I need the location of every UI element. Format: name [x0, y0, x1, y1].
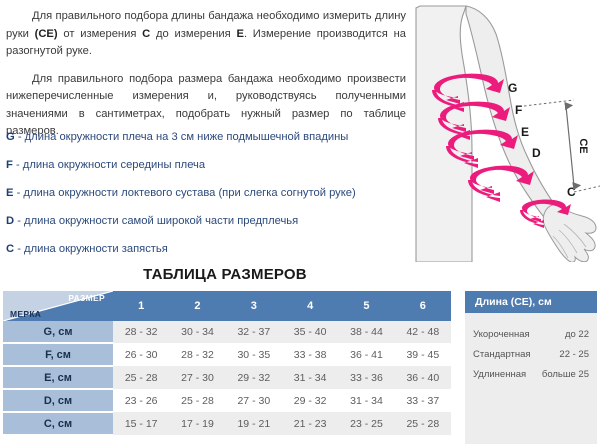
cell-e-4: 31 - 34	[282, 366, 338, 389]
cell-f-4: 33 - 38	[282, 343, 338, 366]
length-table-body: Укороченная до 22 Стандартная 22 - 25 Уд…	[465, 313, 597, 444]
size-column-header-2[interactable]: 2	[169, 291, 225, 321]
row-label-g: G, см	[3, 321, 113, 343]
legend-key-d: D	[6, 215, 14, 227]
cell-f-2: 28 - 32	[169, 343, 225, 366]
cell-e-2: 27 - 30	[169, 366, 225, 389]
legend-key-f: F	[6, 159, 13, 171]
diagram-label-f: F	[515, 103, 522, 117]
cell-c-2: 17 - 19	[169, 412, 225, 435]
length-name-standard: Стандартная	[473, 345, 531, 365]
legend-item-f: F - длина окружности середины плеча	[6, 158, 406, 172]
diagram-label-e: E	[521, 125, 529, 139]
cell-c-5: 23 - 25	[338, 412, 394, 435]
length-name-extended: Удлиненная	[473, 365, 526, 385]
legend-item-c: C - длина окружности запястья	[6, 242, 406, 256]
cell-d-6: 33 - 37	[395, 389, 451, 412]
cell-c-3: 19 - 21	[226, 412, 282, 435]
length-name-shortened: Укороченная	[473, 325, 530, 345]
legend-text-f: - длина окружности середины плеча	[16, 159, 205, 171]
size-column-header-4[interactable]: 4	[282, 291, 338, 321]
cell-d-5: 31 - 34	[338, 389, 394, 412]
legend-text-c: - длина окружности запястья	[17, 243, 168, 255]
arm-silhouette	[466, 6, 566, 230]
size-table: РАЗМЕР МЕРКА 1 2 3 4 5 6 G, см 28 - 32 3…	[3, 291, 451, 436]
diagram-label-g: G	[508, 81, 517, 95]
length-value-shortened: до 22	[565, 325, 589, 345]
cell-c-6: 25 - 28	[395, 412, 451, 435]
cell-g-4: 35 - 40	[282, 321, 338, 343]
cell-e-6: 36 - 40	[395, 366, 451, 389]
legend-item-e: E - длина окружности локтевого сустава (…	[6, 186, 406, 200]
size-table-body: G, см 28 - 32 30 - 34 32 - 37 35 - 40 38…	[3, 321, 451, 435]
cell-c-4: 21 - 23	[282, 412, 338, 435]
size-column-header-5[interactable]: 5	[338, 291, 394, 321]
cell-g-2: 30 - 34	[169, 321, 225, 343]
row-label-f: F, см	[3, 343, 113, 366]
cell-e-5: 33 - 36	[338, 366, 394, 389]
intro-section: Для правильного подбора длины бандажа не…	[0, 0, 600, 262]
size-column-header-6[interactable]: 6	[395, 291, 451, 321]
corner-label-size: РАЗМЕР	[68, 293, 105, 303]
list-item: Стандартная 22 - 25	[465, 345, 597, 365]
legend-text-e: - длина окружности локтевого сустава (пр…	[17, 187, 356, 199]
intro-paragraph-1: Для правильного подбора длины бандажа не…	[6, 8, 406, 61]
diagram-label-ce: CE	[577, 138, 589, 153]
size-table-corner-cell: РАЗМЕР МЕРКА	[3, 291, 113, 321]
table-row: E, см 25 - 28 27 - 30 29 - 32 31 - 34 33…	[3, 366, 451, 389]
row-label-e: E, см	[3, 366, 113, 389]
intro-p1-seg3: до измерения	[150, 28, 236, 40]
cell-e-3: 29 - 32	[226, 366, 282, 389]
measurement-legend: G - длина окружности плеча на 3 см ниже …	[6, 130, 406, 270]
length-table: Длина (CE), см Укороченная до 22 Стандар…	[465, 291, 597, 444]
table-row: F, см 26 - 30 28 - 32 30 - 35 33 - 38 36…	[3, 343, 451, 366]
legend-key-e: E	[6, 187, 13, 199]
intro-p1-bold-e: E	[236, 28, 243, 40]
row-label-c: C, см	[3, 412, 113, 435]
length-value-standard: 22 - 25	[559, 345, 589, 365]
cell-f-3: 30 - 35	[226, 343, 282, 366]
arm-measurement-diagram: G F E D C CE	[414, 0, 600, 262]
table-row: C, см 15 - 17 17 - 19 19 - 21 21 - 23 23…	[3, 412, 451, 435]
cell-g-6: 42 - 48	[395, 321, 451, 343]
size-table-header-row: РАЗМЕР МЕРКА 1 2 3 4 5 6	[3, 291, 451, 321]
legend-text-g: - длина окружности плеча на 3 см ниже по…	[18, 131, 349, 143]
size-column-header-3[interactable]: 3	[226, 291, 282, 321]
cell-e-1: 25 - 28	[113, 366, 169, 389]
cell-f-6: 39 - 45	[395, 343, 451, 366]
corner-label-measure: МЕРКА	[10, 309, 41, 319]
hand-silhouette	[543, 204, 596, 262]
cell-d-1: 23 - 26	[113, 389, 169, 412]
legend-text-d: - длина окружности самой широкой части п…	[17, 215, 298, 227]
cell-g-1: 28 - 32	[113, 321, 169, 343]
length-table-header: Длина (CE), см	[465, 291, 597, 313]
size-table-title: ТАБЛИЦА РАЗМЕРОВ	[0, 266, 450, 283]
intro-p1-seg2: от измерения	[58, 28, 143, 40]
size-table-head: РАЗМЕР МЕРКА 1 2 3 4 5 6	[3, 291, 451, 321]
cell-d-4: 29 - 32	[282, 389, 338, 412]
cell-d-2: 25 - 28	[169, 389, 225, 412]
row-label-d: D, см	[3, 389, 113, 412]
diagram-label-d: D	[532, 146, 541, 160]
table-row: G, см 28 - 32 30 - 34 32 - 37 35 - 40 38…	[3, 321, 451, 343]
length-value-extended: больше 25	[542, 365, 589, 385]
legend-item-d: D - длина окружности самой широкой части…	[6, 214, 406, 228]
cell-f-1: 26 - 30	[113, 343, 169, 366]
cell-g-3: 32 - 37	[226, 321, 282, 343]
list-item: Удлиненная больше 25	[465, 365, 597, 385]
list-item: Укороченная до 22	[465, 325, 597, 345]
legend-key-c: C	[6, 243, 14, 255]
intro-p1-bold-ce: (CE)	[35, 28, 58, 40]
cell-c-1: 15 - 17	[113, 412, 169, 435]
legend-item-g: G - длина окружности плеча на 3 см ниже …	[6, 130, 406, 144]
cell-f-5: 36 - 41	[338, 343, 394, 366]
cell-d-3: 27 - 30	[226, 389, 282, 412]
legend-key-g: G	[6, 131, 15, 143]
size-column-header-1[interactable]: 1	[113, 291, 169, 321]
table-row: D, см 23 - 26 25 - 28 27 - 30 29 - 32 31…	[3, 389, 451, 412]
cell-g-5: 38 - 44	[338, 321, 394, 343]
